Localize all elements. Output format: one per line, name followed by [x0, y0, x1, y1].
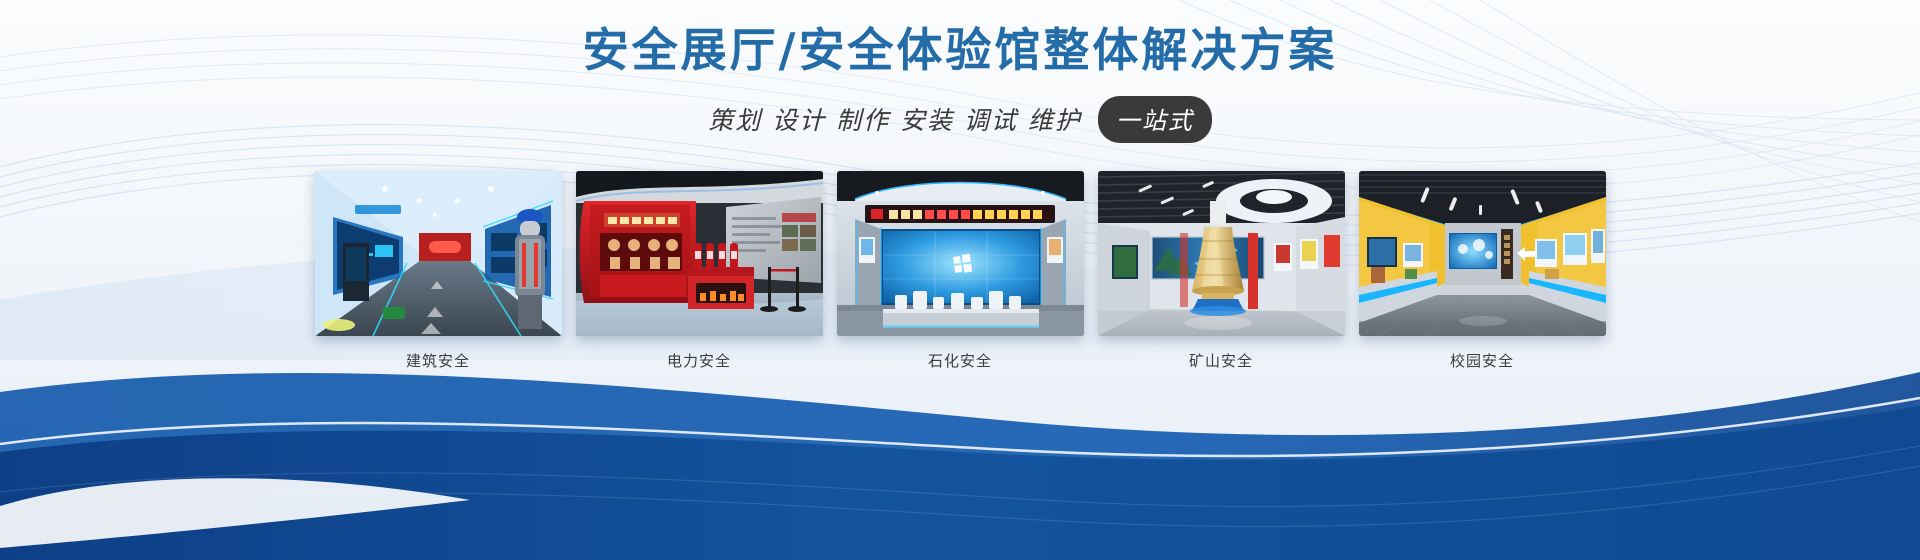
card-thumbnail-mining[interactable] — [1098, 171, 1345, 336]
solution-card[interactable]: 建筑安全 — [315, 171, 562, 371]
page-title: 安全展厅/安全体验馆整体解决方案 — [583, 22, 1338, 80]
card-caption: 矿山安全 — [1189, 350, 1253, 371]
card-thumbnail-campus[interactable] — [1359, 171, 1606, 336]
promo-banner: 安全展厅/安全体验馆整体解决方案 策划 设计 制作 安装 调试 维护 一站式 — [0, 0, 1920, 560]
card-caption: 石化安全 — [928, 350, 992, 371]
card-caption: 电力安全 — [667, 350, 731, 371]
solution-card[interactable]: 石化安全 — [837, 171, 1084, 371]
solution-card[interactable]: 电力安全 — [576, 171, 823, 371]
solution-card-list: 建筑安全 — [315, 171, 1606, 371]
solution-card[interactable]: 矿山安全 — [1098, 171, 1345, 371]
banner-content: 安全展厅/安全体验馆整体解决方案 策划 设计 制作 安装 调试 维护 一站式 — [0, 0, 1920, 560]
card-thumbnail-petrochemical[interactable] — [837, 171, 1084, 336]
card-caption: 校园安全 — [1450, 350, 1514, 371]
solution-card[interactable]: 校园安全 — [1359, 171, 1606, 371]
card-thumbnail-electric[interactable] — [576, 171, 823, 336]
card-thumbnail-construction[interactable] — [315, 171, 562, 336]
one-stop-badge: 一站式 — [1098, 96, 1212, 143]
subtitle-row: 策划 设计 制作 安装 调试 维护 一站式 — [708, 96, 1212, 143]
subtitle-services: 策划 设计 制作 安装 调试 维护 — [708, 101, 1082, 137]
card-caption: 建筑安全 — [406, 350, 470, 371]
